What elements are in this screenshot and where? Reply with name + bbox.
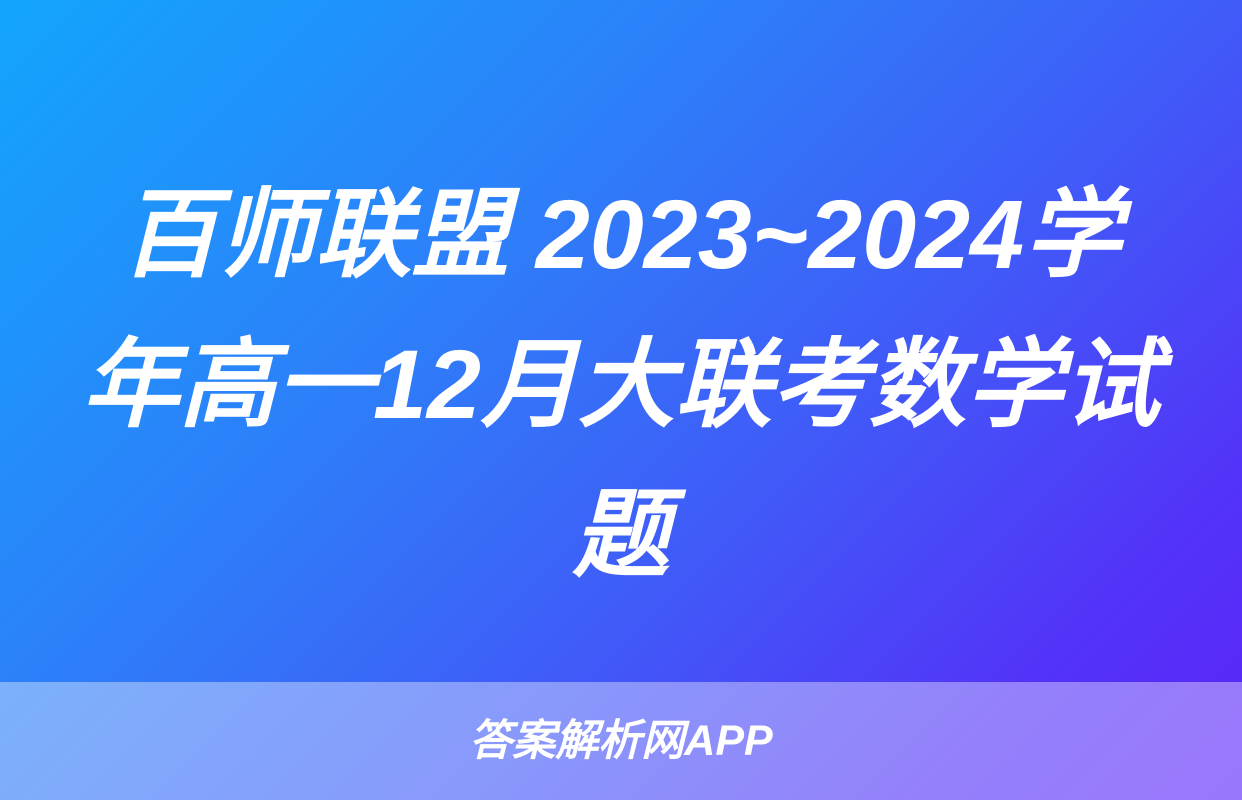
page-title: 百师联盟 2023~2024学年高一12月大联考数学试题: [80, 160, 1162, 610]
app-promo-label: 答案解析网APP: [469, 720, 772, 763]
poster-title-block: 百师联盟 2023~2024学年高一12月大联考数学试题: [0, 160, 1242, 610]
app-promo-banner[interactable]: 答案解析网APP: [0, 682, 1242, 800]
poster-card: 百师联盟 2023~2024学年高一12月大联考数学试题 答案解析网APP: [0, 0, 1242, 800]
